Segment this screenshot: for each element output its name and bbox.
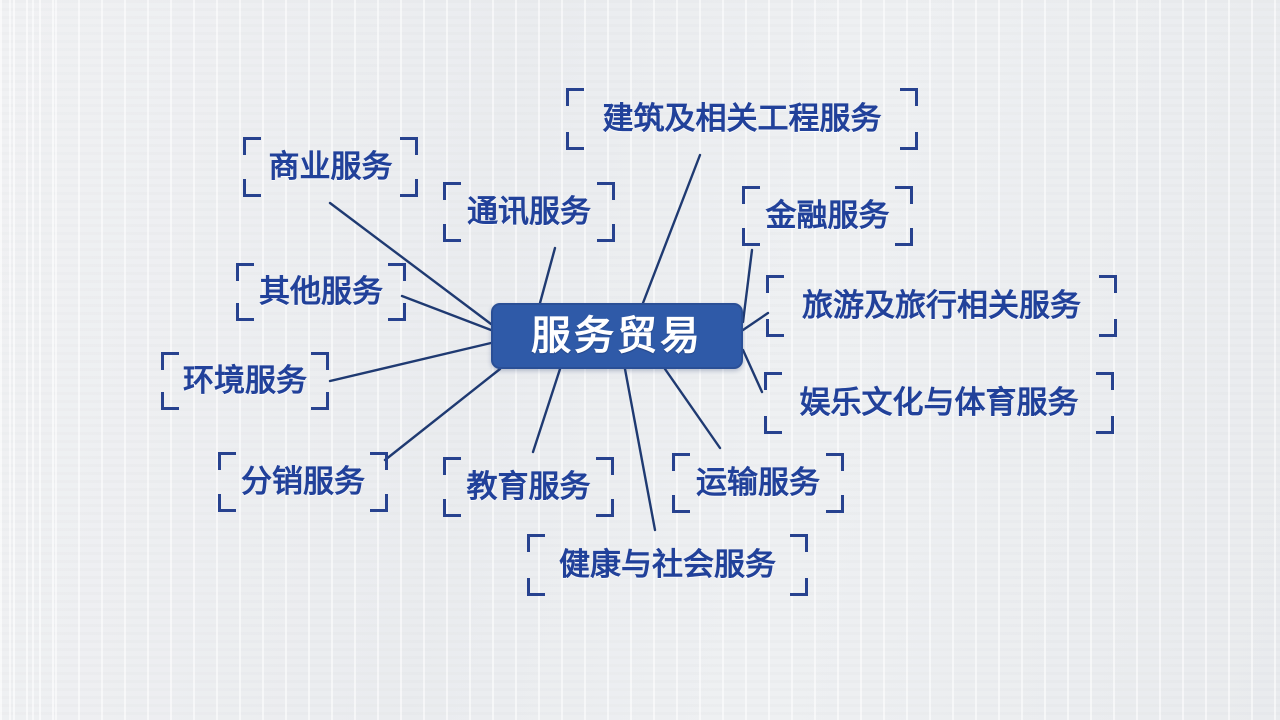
node-environment[interactable]: 环境服务: [161, 352, 329, 410]
node-transport[interactable]: 运输服务: [672, 453, 844, 513]
bracket-corner-bl-icon: [218, 494, 236, 512]
bracket-corner-tl-icon: [236, 263, 254, 281]
bracket-corner-tl-icon: [742, 186, 760, 204]
bracket-corner-bl-icon: [766, 319, 784, 337]
bracket-corner-br-icon: [826, 495, 844, 513]
node-other[interactable]: 其他服务: [236, 263, 406, 321]
connector-transport: [665, 369, 720, 448]
bracket-corner-tr-icon: [900, 88, 918, 106]
diagram-canvas: 服务贸易 建筑及相关工程服务商业服务通讯服务金融服务其他服务旅游及旅行相关服务环…: [0, 0, 1280, 720]
bracket-corner-bl-icon: [236, 303, 254, 321]
bracket-corner-tr-icon: [311, 352, 329, 370]
node-financial[interactable]: 金融服务: [742, 186, 913, 246]
connector-recreation: [743, 350, 762, 392]
bracket-corner-br-icon: [597, 224, 615, 242]
connector-construction: [643, 155, 700, 303]
bracket-corner-br-icon: [900, 132, 918, 150]
bracket-corner-tr-icon: [370, 452, 388, 470]
bracket-corner-tl-icon: [443, 182, 461, 200]
bracket-corner-bl-icon: [161, 392, 179, 410]
bracket-corner-br-icon: [311, 392, 329, 410]
connector-communication: [540, 248, 555, 303]
node-label-tourism: 旅游及旅行相关服务: [802, 291, 1081, 322]
node-label-health: 健康与社会服务: [559, 550, 776, 581]
bracket-corner-tr-icon: [388, 263, 406, 281]
bracket-corner-br-icon: [895, 228, 913, 246]
connector-distribution: [385, 369, 500, 460]
bracket-corner-tl-icon: [161, 352, 179, 370]
bracket-corner-tl-icon: [566, 88, 584, 106]
node-health[interactable]: 健康与社会服务: [527, 534, 808, 596]
bracket-corner-tr-icon: [400, 137, 418, 155]
node-label-construction: 建筑及相关工程服务: [603, 104, 882, 135]
bracket-corner-bl-icon: [527, 578, 545, 596]
bracket-corner-bl-icon: [443, 499, 461, 517]
bracket-corner-tl-icon: [527, 534, 545, 552]
node-business[interactable]: 商业服务: [243, 137, 418, 197]
node-label-environment: 环境服务: [183, 366, 307, 397]
bracket-corner-tr-icon: [895, 186, 913, 204]
center-node-label: 服务贸易: [531, 316, 703, 356]
bracket-corner-br-icon: [790, 578, 808, 596]
bracket-corner-tr-icon: [826, 453, 844, 471]
node-distribution[interactable]: 分销服务: [218, 452, 388, 512]
node-label-recreation: 娱乐文化与体育服务: [800, 388, 1079, 419]
bracket-corner-tr-icon: [790, 534, 808, 552]
bracket-corner-tl-icon: [766, 275, 784, 293]
node-label-financial: 金融服务: [766, 201, 890, 232]
bracket-corner-tl-icon: [218, 452, 236, 470]
node-label-communication: 通讯服务: [467, 197, 591, 228]
bracket-corner-tr-icon: [597, 182, 615, 200]
connector-financial: [743, 250, 752, 322]
center-node-service-trade[interactable]: 服务贸易: [491, 303, 743, 369]
bracket-corner-tl-icon: [443, 457, 461, 475]
bracket-corner-br-icon: [370, 494, 388, 512]
bracket-corner-bl-icon: [742, 228, 760, 246]
bracket-corner-tr-icon: [1096, 372, 1114, 390]
node-tourism[interactable]: 旅游及旅行相关服务: [766, 275, 1117, 337]
node-education[interactable]: 教育服务: [443, 457, 614, 517]
node-communication[interactable]: 通讯服务: [443, 182, 615, 242]
bracket-corner-tl-icon: [764, 372, 782, 390]
node-recreation[interactable]: 娱乐文化与体育服务: [764, 372, 1114, 434]
node-label-distribution: 分销服务: [241, 467, 365, 498]
bracket-corner-br-icon: [400, 179, 418, 197]
node-label-other: 其他服务: [259, 277, 383, 308]
bracket-corner-tl-icon: [243, 137, 261, 155]
bracket-corner-tr-icon: [596, 457, 614, 475]
bracket-corner-bl-icon: [443, 224, 461, 242]
connector-environment: [330, 343, 491, 381]
node-construction[interactable]: 建筑及相关工程服务: [566, 88, 918, 150]
node-label-business: 商业服务: [269, 152, 393, 183]
bracket-corner-tr-icon: [1099, 275, 1117, 293]
bracket-corner-br-icon: [388, 303, 406, 321]
connector-tourism: [743, 313, 768, 330]
connector-health: [625, 369, 655, 530]
bracket-corner-tl-icon: [672, 453, 690, 471]
connector-other: [402, 296, 491, 330]
bracket-corner-bl-icon: [764, 416, 782, 434]
node-label-transport: 运输服务: [696, 468, 820, 499]
node-label-education: 教育服务: [467, 472, 591, 503]
bracket-corner-br-icon: [1099, 319, 1117, 337]
bracket-corner-br-icon: [596, 499, 614, 517]
bracket-corner-bl-icon: [672, 495, 690, 513]
connector-education: [533, 369, 560, 452]
bracket-corner-bl-icon: [566, 132, 584, 150]
bracket-corner-br-icon: [1096, 416, 1114, 434]
bracket-corner-bl-icon: [243, 179, 261, 197]
